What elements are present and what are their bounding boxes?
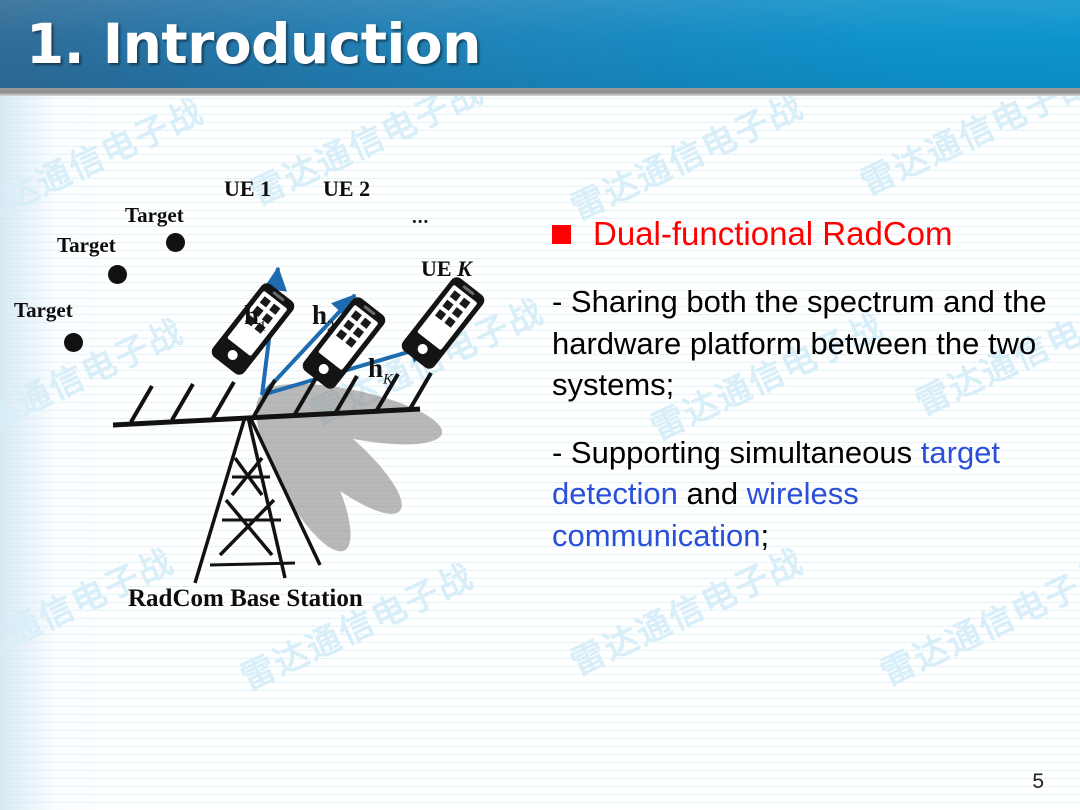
channel-symbol: h bbox=[244, 300, 259, 330]
paragraph-sharing: - Sharing both the spectrum and the hard… bbox=[552, 281, 1052, 406]
channel-subscript: 2 bbox=[327, 318, 335, 334]
ue-label-prefix: UE bbox=[421, 256, 457, 281]
target-label: Target bbox=[125, 203, 184, 228]
array-element bbox=[172, 384, 193, 420]
paragraph-text: ; bbox=[760, 518, 769, 553]
paragraph-text: - Sharing both the spectrum and the hard… bbox=[552, 284, 1047, 402]
array-element bbox=[131, 386, 152, 422]
target-dot bbox=[64, 333, 83, 352]
figure-caption: RadCom Base Station bbox=[128, 585, 363, 613]
tower-leg-left bbox=[195, 417, 245, 583]
ue-label-index: 2 bbox=[359, 176, 370, 201]
channel-label-hk: hK bbox=[368, 353, 393, 388]
channel-symbol: h bbox=[312, 300, 327, 330]
watermark-text: 雷达通信电子战 bbox=[561, 79, 810, 230]
array-element bbox=[410, 373, 431, 409]
target-dot bbox=[108, 265, 127, 284]
square-bullet-icon bbox=[552, 225, 571, 244]
channel-symbol: h bbox=[368, 353, 383, 383]
paragraph-text: - Supporting simultaneous bbox=[552, 435, 921, 470]
ue-phone-k bbox=[399, 274, 487, 371]
ue-label-1: UE 1 bbox=[224, 176, 271, 202]
radcom-system-figure: Target Target Target UE 1 UE 2 UE K ... … bbox=[0, 95, 540, 655]
content-column: Dual-functional RadCom - Sharing both th… bbox=[552, 215, 1052, 582]
ue-label-index: K bbox=[457, 256, 472, 281]
channel-label-h1: h1 bbox=[244, 300, 267, 335]
page-title: 1. Introduction bbox=[26, 12, 481, 76]
array-element bbox=[213, 382, 234, 418]
bullet-heading-row: Dual-functional RadCom bbox=[552, 215, 1052, 253]
bullet-heading-label: Dual-functional RadCom bbox=[593, 215, 953, 253]
channel-subscript: K bbox=[383, 371, 393, 387]
paragraph-text: and bbox=[678, 476, 747, 511]
target-dot bbox=[166, 233, 185, 252]
ue-label-2: UE 2 bbox=[323, 176, 370, 202]
ue-ellipsis-label: ... bbox=[412, 207, 429, 229]
ue-label-prefix: UE bbox=[323, 176, 359, 201]
target-label: Target bbox=[14, 298, 73, 323]
paragraph-supporting: - Supporting simultaneous target detecti… bbox=[552, 432, 1052, 557]
channel-subscript: 1 bbox=[259, 318, 267, 334]
ue-label-k: UE K bbox=[421, 256, 472, 282]
ue-label-index: 1 bbox=[260, 176, 271, 201]
tower-brace bbox=[210, 563, 295, 565]
target-label: Target bbox=[57, 233, 116, 258]
ue-label-prefix: UE bbox=[224, 176, 260, 201]
page-number: 5 bbox=[1032, 770, 1044, 794]
channel-label-h2: h2 bbox=[312, 300, 335, 335]
slide-root: 雷达通信电子战 雷达通信电子战 雷达通信电子战 雷达通信电子战 雷达通信电子战 … bbox=[0, 0, 1080, 810]
